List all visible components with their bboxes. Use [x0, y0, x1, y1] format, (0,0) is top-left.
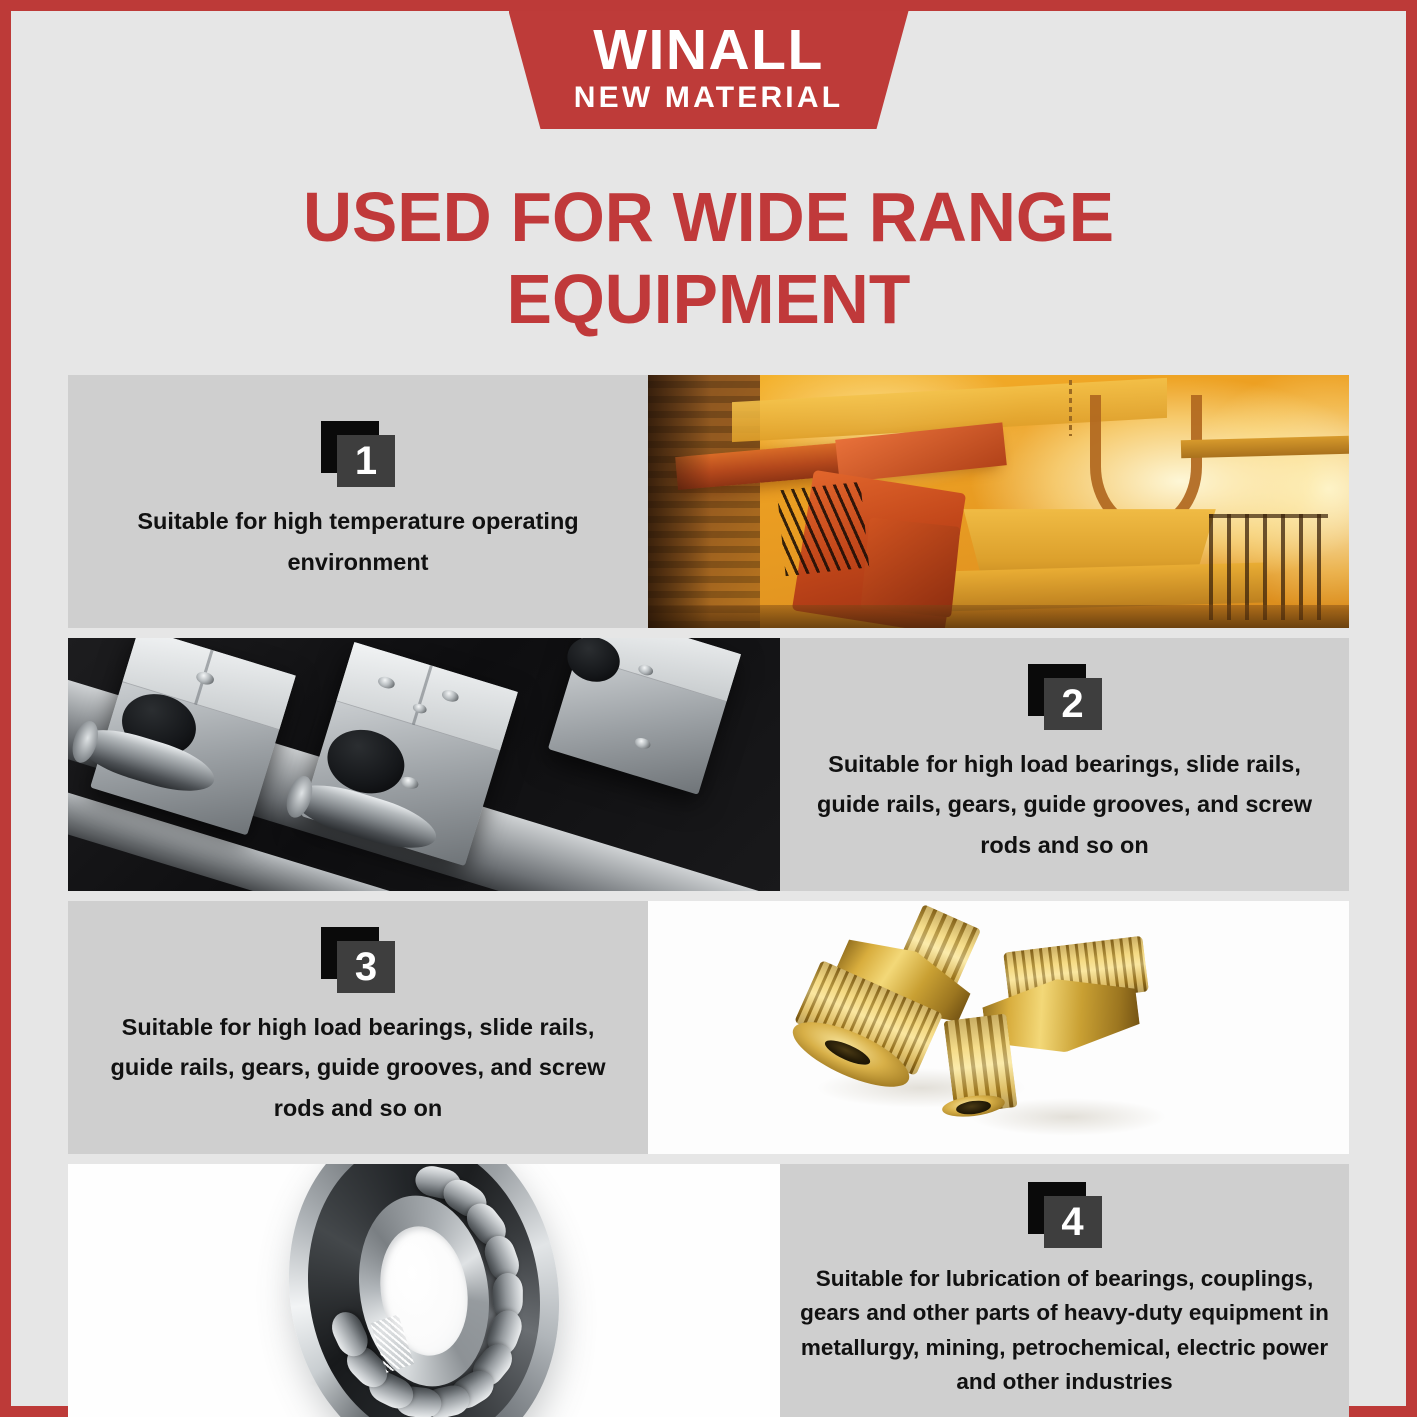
page-title-line-1: USED FOR WIDE RANGE	[32, 177, 1385, 259]
badge-number: 1	[355, 441, 377, 481]
number-badge-4: 4	[1028, 1182, 1102, 1248]
feature-caption-4: Suitable for lubrication of bearings, co…	[800, 1262, 1329, 1399]
badge-number: 2	[1061, 684, 1083, 724]
cable-bundle	[777, 482, 870, 576]
poster-page: WINALL NEW MATERIAL USED FOR WIDE RANGE …	[11, 11, 1406, 1406]
badge-front-square: 4	[1044, 1196, 1102, 1248]
feature-row-1: 1 Suitable for high temperature operatin…	[68, 375, 1349, 628]
spherical-roller-bearing-photo	[68, 1164, 780, 1417]
feature-row-4: 4 Suitable for lubrication of bearings, …	[68, 1164, 1349, 1417]
number-badge-3: 3	[321, 927, 395, 993]
page-title-line-2: EQUIPMENT	[32, 259, 1385, 341]
badge-front-square: 1	[337, 435, 395, 487]
badge-number: 4	[1061, 1202, 1083, 1242]
brand-banner: WINALL NEW MATERIAL	[11, 11, 1406, 131]
roller-bearing	[265, 1164, 584, 1417]
feature-text-panel-4: 4 Suitable for lubrication of bearings, …	[780, 1164, 1349, 1417]
number-badge-2: 2	[1028, 664, 1102, 730]
bearing-block-3	[548, 638, 741, 794]
feature-row-2: 2 Suitable for high load bearings, slide…	[68, 638, 1349, 891]
brand-name: WINALL	[593, 21, 824, 79]
page-title: USED FOR WIDE RANGE EQUIPMENT	[32, 177, 1385, 341]
brand-banner-shape: WINALL NEW MATERIAL	[509, 11, 909, 129]
feature-text-panel-3: 3 Suitable for high load bearings, slide…	[68, 901, 648, 1154]
badge-number: 3	[355, 947, 377, 987]
left-shadow	[648, 375, 711, 628]
brand-tagline: NEW MATERIAL	[574, 81, 843, 116]
linear-rail-bearing-blocks-photo	[68, 638, 780, 891]
feature-caption-2: Suitable for high load bearings, slide r…	[800, 744, 1329, 865]
feature-text-panel-1: 1 Suitable for high temperature operatin…	[68, 375, 648, 628]
foundry-floor	[648, 605, 1349, 628]
badge-front-square: 2	[1044, 678, 1102, 730]
feature-row-3: 3 Suitable for high load bearings, slide…	[68, 901, 1349, 1154]
feature-caption-1: Suitable for high temperature operating …	[93, 501, 623, 582]
feature-text-panel-2: 2 Suitable for high load bearings, slide…	[780, 638, 1349, 891]
robot-base	[861, 517, 961, 617]
feature-caption-3: Suitable for high load bearings, slide r…	[93, 1007, 623, 1128]
chain	[1069, 380, 1072, 436]
number-badge-1: 1	[321, 421, 395, 487]
feature-rows: 1 Suitable for high temperature operatin…	[68, 375, 1349, 1417]
upper-rail	[1181, 436, 1349, 458]
hot-foundry-steel-mill-photo	[648, 375, 1349, 628]
brass-hose-barb-fittings-photo	[648, 901, 1349, 1154]
badge-front-square: 3	[337, 941, 395, 993]
